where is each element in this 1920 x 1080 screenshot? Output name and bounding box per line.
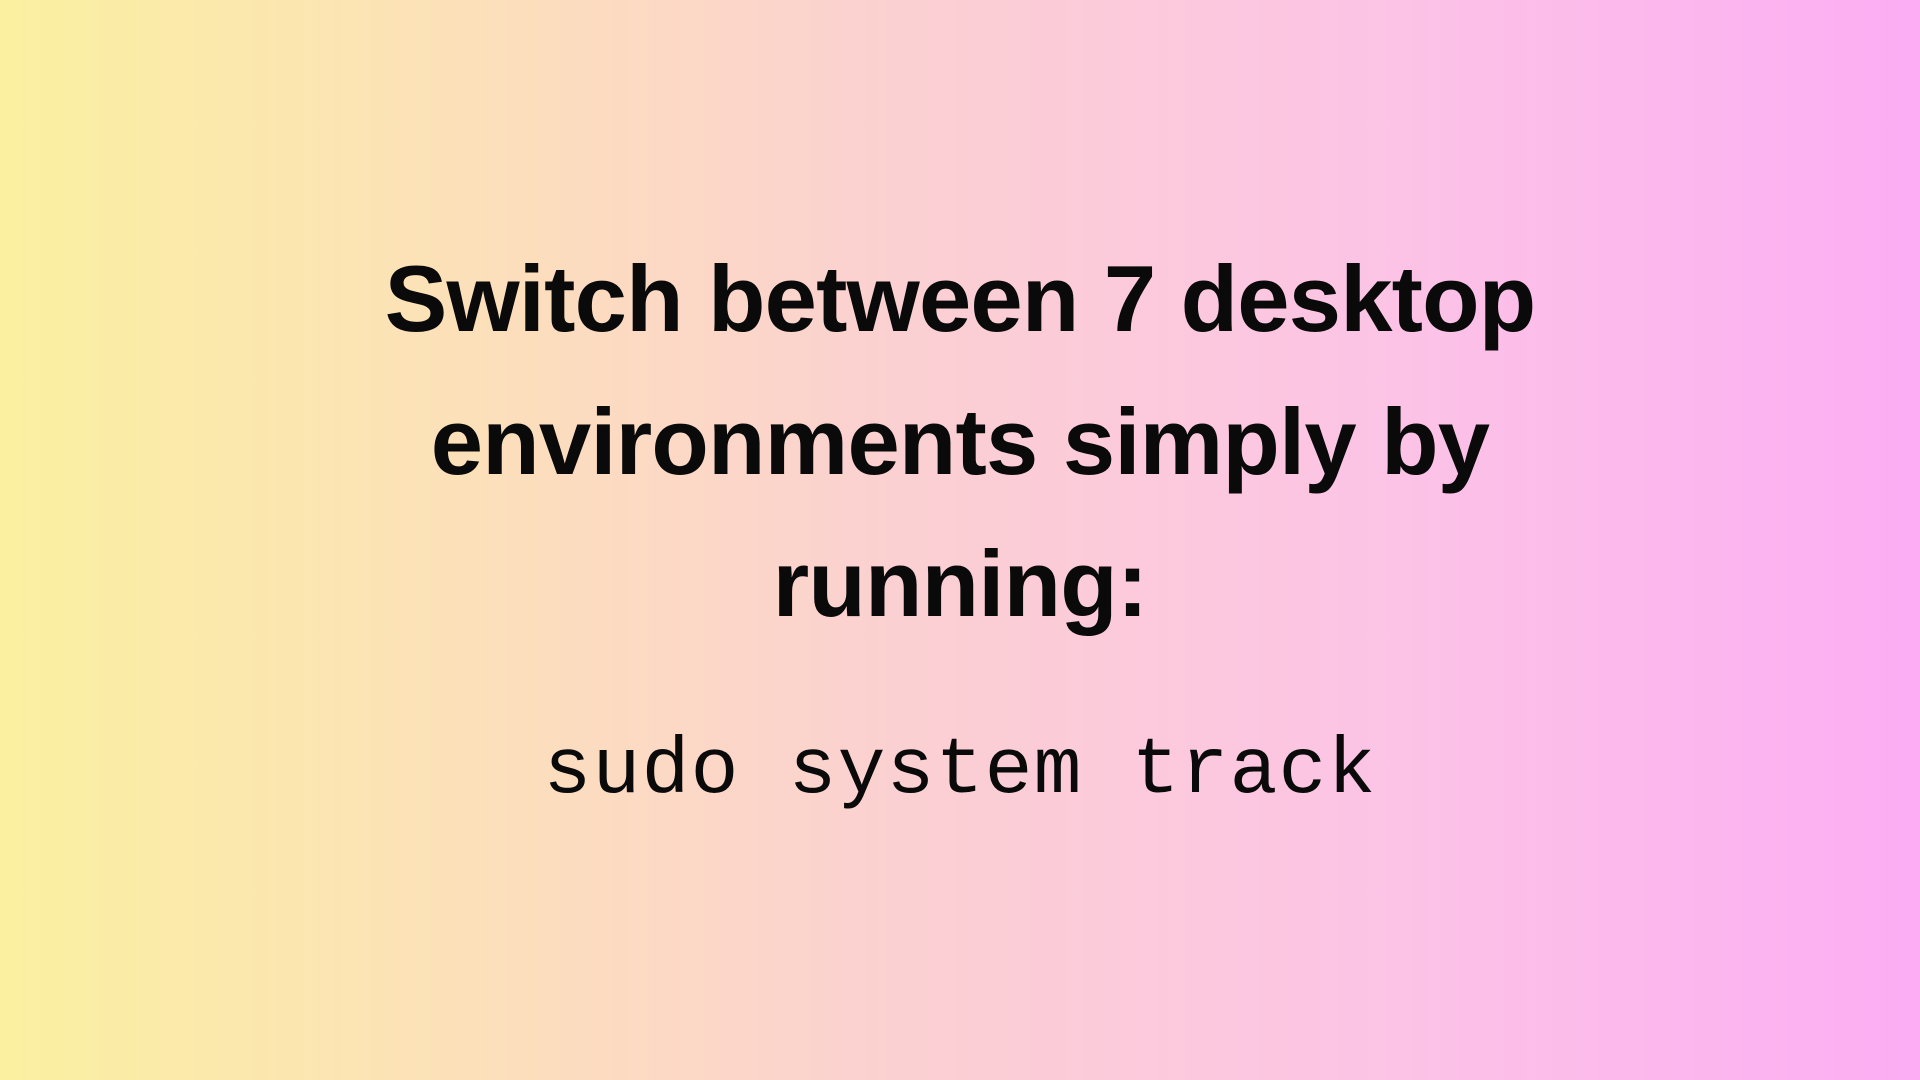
headline-line-3: running: <box>385 513 1536 656</box>
content-block: Switch between 7 desktop environments si… <box>210 228 1710 817</box>
headline-line-2: environments simply by <box>385 371 1536 514</box>
page-title: Switch between 7 desktop environments si… <box>385 228 1536 657</box>
headline-line-1: Switch between 7 desktop <box>385 228 1536 371</box>
command-text: sudo system track <box>543 728 1376 816</box>
slide-canvas: Switch between 7 desktop environments si… <box>0 0 1920 1080</box>
